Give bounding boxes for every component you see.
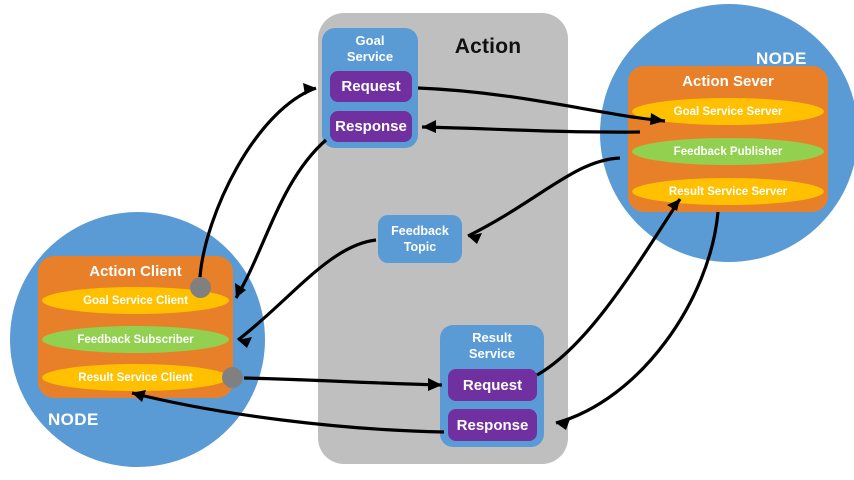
goal-service-title: Goal Service xyxy=(322,33,418,65)
action-server-box: Action Sever Goal Service Server Feedbac… xyxy=(628,66,828,212)
result-service-server-pill[interactable]: Result Service Server xyxy=(632,178,824,205)
goal-client-connector-dot xyxy=(190,277,211,298)
goal-service-server-pill[interactable]: Goal Service Server xyxy=(632,98,824,125)
result-service-title-line2: Service xyxy=(469,346,515,361)
feedback-publisher-pill[interactable]: Feedback Publisher xyxy=(632,138,824,165)
result-service-request-box[interactable]: Request xyxy=(448,369,537,401)
feedback-topic-box[interactable]: Feedback Topic xyxy=(378,215,462,263)
goal-service-response-box[interactable]: Response xyxy=(330,111,412,142)
result-service-title: Result Service xyxy=(440,330,544,362)
goal-service-title-line2: Service xyxy=(347,49,393,64)
node-client-label: NODE xyxy=(48,410,99,430)
result-service-client-pill[interactable]: Result Service Client xyxy=(42,364,229,391)
arrow-goal-response-to-client xyxy=(235,140,326,298)
result-service-response-box[interactable]: Response xyxy=(448,409,537,441)
feedback-subscriber-pill[interactable]: Feedback Subscriber xyxy=(42,326,229,353)
goal-service-title-line1: Goal xyxy=(356,33,385,48)
goal-service-request-box[interactable]: Request xyxy=(330,71,412,102)
action-server-title: Action Sever xyxy=(628,73,828,90)
result-service-title-line1: Result xyxy=(472,330,512,345)
diagram-canvas: Action Action Client Goal Service Client… xyxy=(0,0,854,480)
action-panel-title: Action xyxy=(428,35,548,59)
feedback-topic-line2: Topic xyxy=(404,239,436,255)
result-client-connector-dot xyxy=(222,367,243,388)
feedback-topic-line1: Feedback xyxy=(391,223,449,239)
node-server-label: NODE xyxy=(756,49,807,69)
